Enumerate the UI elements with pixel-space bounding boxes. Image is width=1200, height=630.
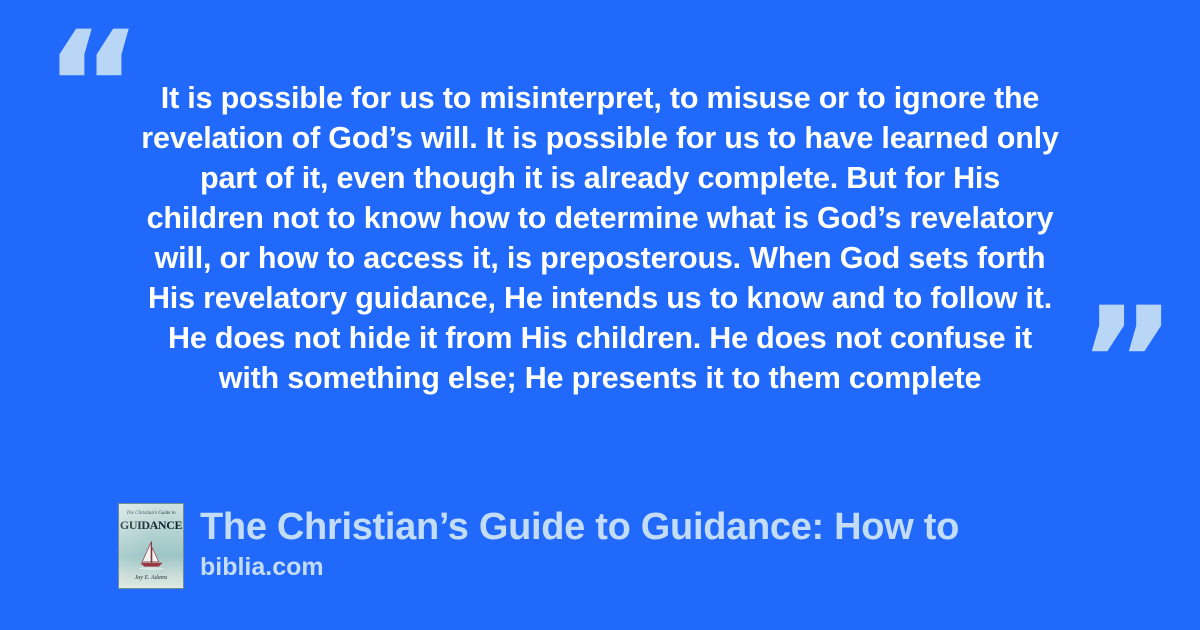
- quote-line: revelation of God’s will. It is possible…: [108, 118, 1092, 158]
- quote-line: His revelatory guidance, He intends us t…: [108, 278, 1092, 318]
- book-cover-subtitle: The Christian’s Guide to: [119, 511, 183, 517]
- quote-text-block: It is possible for us to misinterpret, t…: [108, 78, 1092, 398]
- quote-line: It is possible for us to misinterpret, t…: [108, 78, 1092, 118]
- quote-card: “ It is possible for us to misinterpret,…: [0, 0, 1200, 630]
- quote-line: He does not hide it from His children. H…: [108, 318, 1092, 358]
- source-attribution: The Christian’s Guide to GUIDANCE Jay E.…: [118, 503, 959, 589]
- book-title: The Christian’s Guide to Guidance: How t…: [200, 504, 959, 550]
- source-text-group: The Christian’s Guide to Guidance: How t…: [200, 503, 959, 582]
- book-cover-title: GUIDANCE: [119, 519, 183, 532]
- book-cover-thumbnail: The Christian’s Guide to GUIDANCE Jay E.…: [118, 503, 184, 589]
- quote-line: will, or how to access it, is prepostero…: [108, 238, 1092, 278]
- quote-line: with something else; He presents it to t…: [108, 358, 1092, 398]
- quote-line: part of it, even though it is already co…: [108, 158, 1092, 198]
- closing-quote-icon: ”: [1078, 288, 1177, 438]
- site-name: biblia.com: [200, 552, 959, 582]
- quote-line: children not to know how to determine wh…: [108, 198, 1092, 238]
- book-cover-author: Jay E. Adams: [119, 575, 183, 582]
- sailboat-icon: [119, 538, 183, 572]
